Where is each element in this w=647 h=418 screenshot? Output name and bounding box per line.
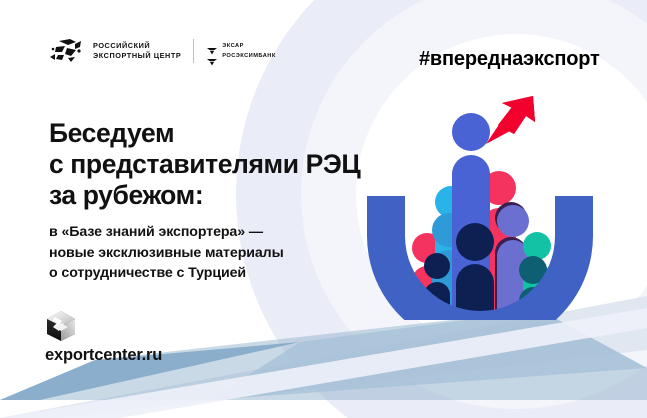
roseximbank-chevron-icon [207,53,217,60]
partner-logos: ЭКСАР РОСЭКСИМБАНК [207,42,276,60]
hashtag-text: #впереднаэкспорт [419,48,600,71]
rec-globe-swirl-icon [50,38,84,64]
cube-hexagon-logo-icon [46,310,76,342]
website-url[interactable]: exportcenter.ru [45,346,162,365]
partner-roseximbank-label: РОСЭКСИМБАНК [222,53,276,59]
logo-divider [193,39,194,63]
partner-roseximbank: РОСЭКСИМБАНК [207,53,276,60]
headline: Беседуем с представителями РЭЦ за рубежо… [49,118,360,211]
subheading-line-1: в «Базе знаний экспортера» — [49,222,284,243]
people-group-in-arc-illustration [355,90,605,320]
red-arrow-pointing-down-left-icon [486,92,544,144]
subheading-line-2: новые эксклюзивные материалы [49,243,284,264]
subheading-line-3: о сотрудничестве с Турцией [49,263,284,284]
subheading: в «Базе знаний экспортера» — новые экскл… [49,222,284,284]
partner-exiar-label: ЭКСАР [222,43,244,49]
headline-line-3: за рубежом: [49,180,360,211]
partner-exiar: ЭКСАР [207,42,276,49]
headline-line-1: Беседуем [49,118,360,149]
figure-navy-center [456,223,494,320]
brand-logo-line1: РОССИЙСКИЙ [93,41,181,52]
brand-logo-lockup: РОССИЙСКИЙ ЭКСПОРТНЫЙ ЦЕНТР ЭКСАР РО [50,38,276,64]
exiar-chevron-icon [207,42,217,49]
brand-logo-line2: ЭКСПОРТНЫЙ ЦЕНТР [93,51,181,62]
promo-banner: РОССИЙСКИЙ ЭКСПОРТНЫЙ ЦЕНТР ЭКСАР РО [0,0,647,418]
brand-logo-text: РОССИЙСКИЙ ЭКСПОРТНЫЙ ЦЕНТР [93,41,181,62]
headline-line-2: с представителями РЭЦ [49,149,360,180]
